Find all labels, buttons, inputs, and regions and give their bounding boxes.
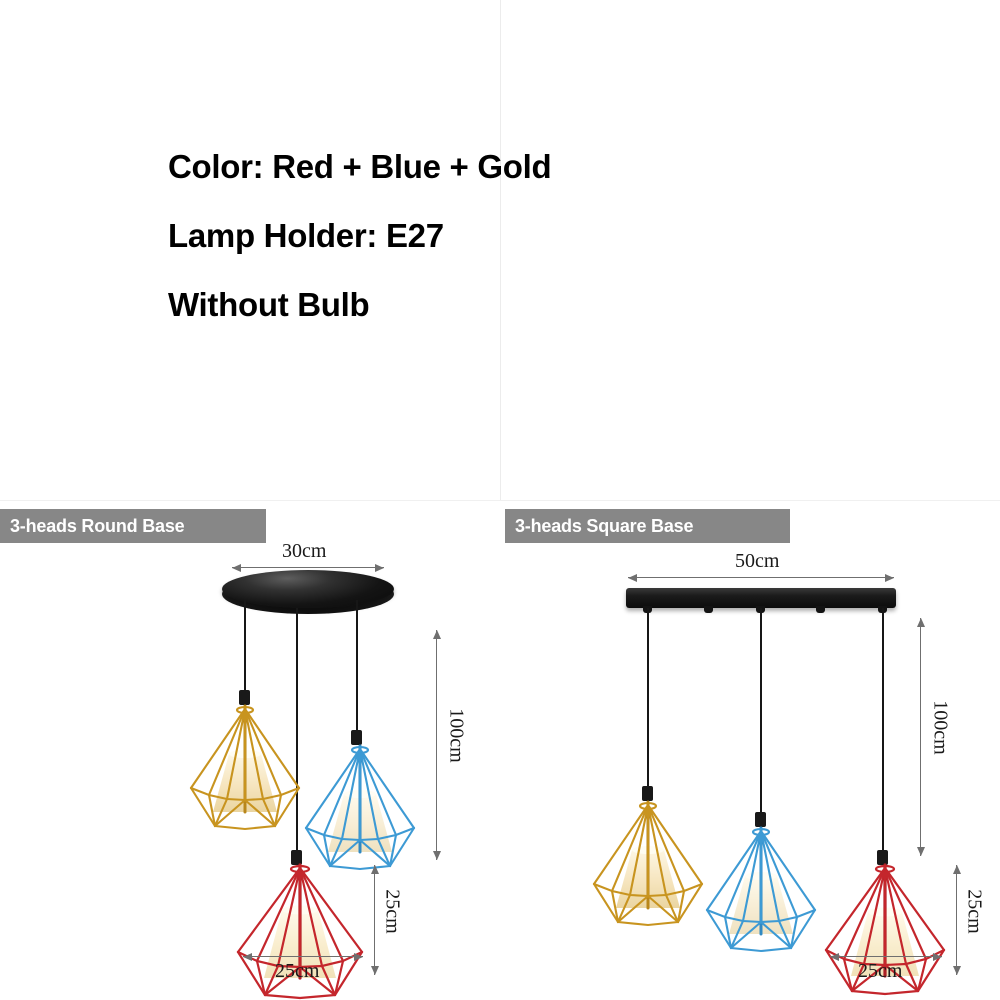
- spec-color: Color: Red + Blue + Gold: [168, 150, 788, 183]
- specification-list: Color: Red + Blue + Gold Lamp Holder: E2…: [168, 150, 788, 357]
- dimension-round-base-width-label: 30cm: [282, 540, 326, 563]
- panel-square-base: 50cm: [500, 500, 1000, 1000]
- product-infographic: Color: Red + Blue + Gold Lamp Holder: E2…: [0, 0, 1000, 1000]
- spec-lamp-holder: Lamp Holder: E27: [168, 219, 788, 252]
- dimension-round-shade-height-label: 25cm: [381, 877, 404, 947]
- dimension-round-drop-height-label: 100cm: [445, 701, 468, 771]
- dimension-round-shade-width-label: 25cm: [275, 960, 319, 983]
- cord-gold: [244, 600, 246, 694]
- spec-bulb: Without Bulb: [168, 288, 788, 321]
- dimension-square-shade-width-label: 25cm: [858, 960, 902, 983]
- ceiling-plate-round: [222, 570, 394, 608]
- cord-blue: [356, 600, 358, 734]
- lamp-shade-gold: [588, 796, 708, 926]
- dimension-square-shade-height-label: 25cm: [963, 877, 986, 947]
- panel-round-base: 30cm: [0, 500, 500, 1000]
- dimension-square-drop-height-label: 100cm: [929, 693, 952, 763]
- cord-gold: [647, 608, 649, 790]
- bar-nub-4: [816, 606, 825, 613]
- lamp-shade-gold: [185, 700, 305, 830]
- dimension-square-base-width-label: 50cm: [735, 550, 779, 573]
- cord-blue: [760, 608, 762, 816]
- lamp-shade-blue: [701, 822, 821, 952]
- bar-nub-2: [704, 606, 713, 613]
- ceiling-plate-bar: [626, 588, 896, 608]
- lamp-shade-blue: [300, 740, 420, 870]
- cord-red: [882, 608, 884, 854]
